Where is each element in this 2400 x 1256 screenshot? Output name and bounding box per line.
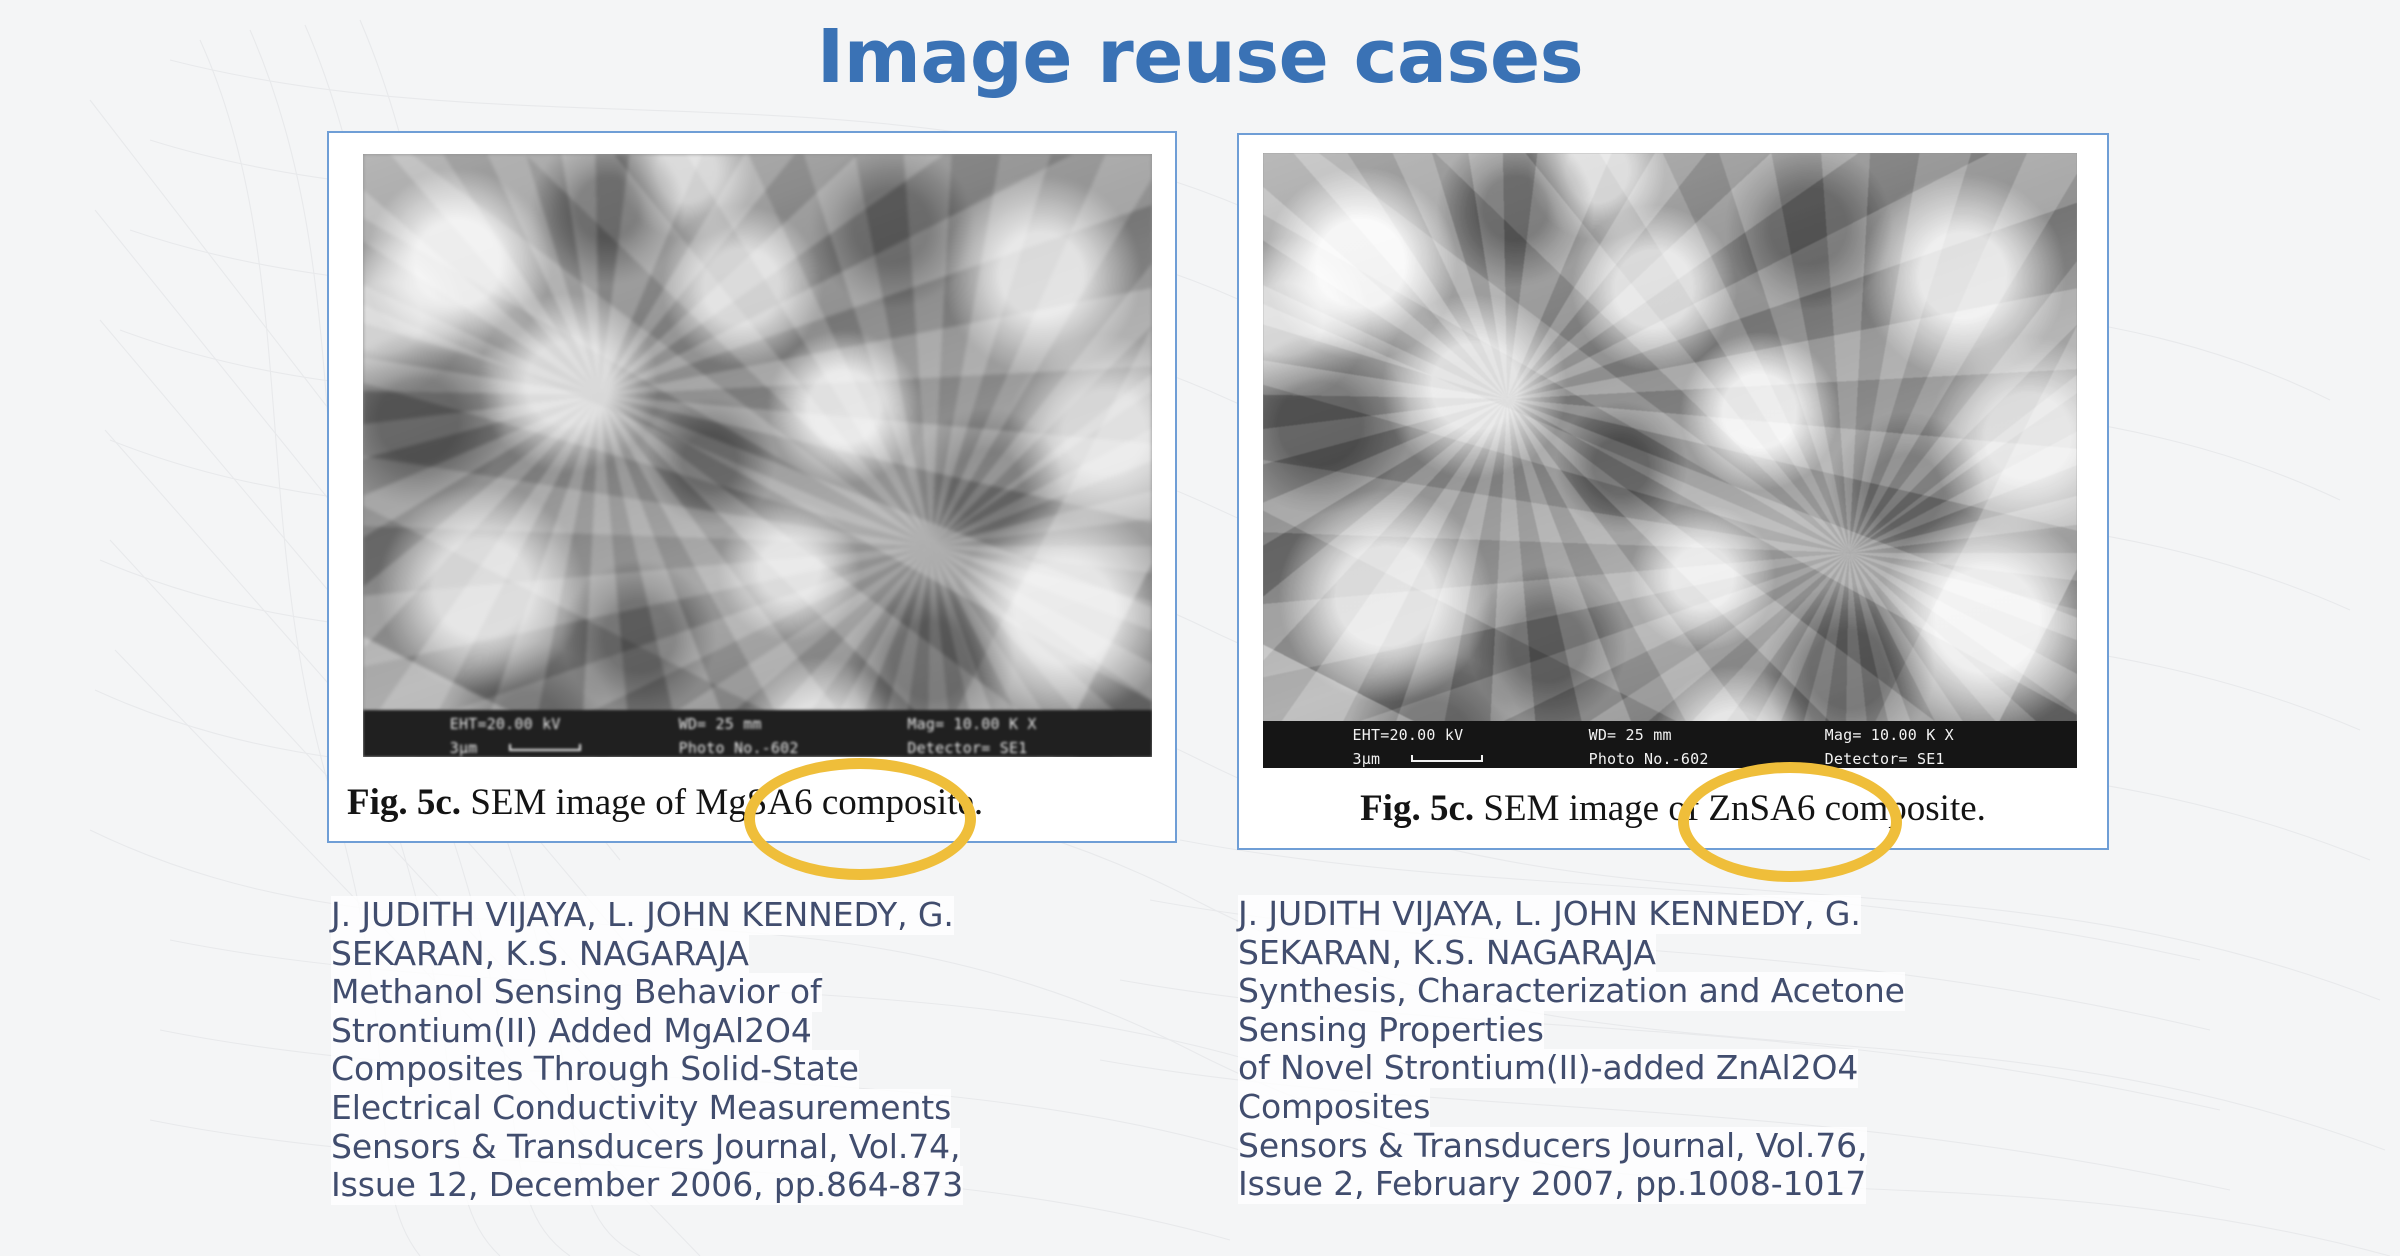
citation-title-line: Composites — [1238, 1088, 1430, 1127]
citation-authors-line: SEKARAN, K.S. NAGARAJA — [1238, 934, 1656, 973]
citation-journal-line: Issue 2, February 2007, pp.1008-1017 — [1238, 1165, 1866, 1204]
sem-info-bar-left: EHT=20.00 kV 3µm WD= 25 mm Photo No.-602… — [363, 710, 1152, 757]
citation-block-left: J. JUDITH VIJAYA, L. JOHN KENNEDY, G. SE… — [331, 896, 971, 1205]
citation-authors-line: J. JUDITH VIJAYA, L. JOHN KENNEDY, G. — [1238, 895, 1861, 934]
sem-wd-value: WD= 25 mm — [1589, 726, 1672, 744]
sem-texture — [1263, 153, 2077, 768]
sem-info-bar-right: EHT=20.00 kV 3µm WD= 25 mm Photo No.-602… — [1263, 721, 2077, 768]
figure-caption-label: Fig. 5c. — [1360, 788, 1474, 829]
figure-caption-left: Fig. 5c. SEM image of MgSA6 composite. — [329, 781, 1175, 824]
citation-title-line: Composites Through Solid-State — [331, 1050, 859, 1089]
sem-scalebar-icon — [509, 744, 581, 751]
sem-scale-value: 3µm — [450, 739, 478, 757]
citation-authors-line: SEKARAN, K.S. NAGARAJA — [331, 935, 749, 974]
figure-caption-text: SEM image of MgSA6 composite. — [461, 782, 983, 823]
citation-title-line: Sensing Properties — [1238, 1011, 1544, 1050]
figure-caption-label: Fig. 5c. — [347, 782, 461, 823]
sem-micrograph-left: EHT=20.00 kV 3µm WD= 25 mm Photo No.-602… — [363, 154, 1152, 757]
citation-authors-line: J. JUDITH VIJAYA, L. JOHN KENNEDY, G. — [331, 896, 954, 935]
sem-mag-value: Mag= 10.00 K X — [1825, 726, 1954, 744]
sem-photo-no-value: Photo No.-602 — [1589, 749, 1709, 768]
sem-mag-value: Mag= 10.00 K X — [907, 715, 1036, 733]
sem-detector-value: Detector= SE1 — [907, 738, 1036, 757]
figure-panel-left[interactable]: EHT=20.00 kV 3µm WD= 25 mm Photo No.-602… — [327, 131, 1177, 843]
sem-micrograph-right: EHT=20.00 kV 3µm WD= 25 mm Photo No.-602… — [1263, 153, 2077, 768]
sem-detector-value: Detector= SE1 — [1825, 749, 1954, 768]
sem-eht-value: EHT=20.00 kV — [450, 715, 561, 733]
sem-scale-value: 3µm — [1353, 750, 1381, 768]
sem-texture — [363, 154, 1152, 757]
figure-caption-right: Fig. 5c. SEM image of ZnSA6 composite. — [1239, 787, 2107, 830]
citation-title-line: Synthesis, Characterization and Acetone — [1238, 972, 1905, 1011]
citation-journal-line: Issue 12, December 2006, pp.864-873 — [331, 1166, 963, 1205]
sem-photo-no-value: Photo No.-602 — [679, 738, 799, 757]
citation-journal-line: Sensors & Transducers Journal, Vol.74, — [331, 1128, 960, 1167]
sem-wd-value: WD= 25 mm — [679, 715, 762, 733]
figure-caption-text: SEM image of ZnSA6 composite. — [1474, 788, 1986, 829]
sem-scalebar-icon — [1411, 755, 1483, 762]
citation-journal-line: Sensors & Transducers Journal, Vol.76, — [1238, 1127, 1867, 1166]
citation-title-line: Electrical Conductivity Measurements — [331, 1089, 951, 1128]
citation-title-line: of Novel Strontium(II)-added ZnAl2O4 — [1238, 1049, 1858, 1088]
citation-title-line: Methanol Sensing Behavior of — [331, 973, 822, 1012]
figure-panel-right[interactable]: EHT=20.00 kV 3µm WD= 25 mm Photo No.-602… — [1237, 133, 2109, 850]
citation-title-line: Strontium(II) Added MgAl2O4 — [331, 1012, 812, 1051]
page-title: Image reuse cases — [0, 14, 2400, 100]
citation-block-right: J. JUDITH VIJAYA, L. JOHN KENNEDY, G. SE… — [1238, 895, 1918, 1204]
sem-eht-value: EHT=20.00 kV — [1353, 726, 1464, 744]
